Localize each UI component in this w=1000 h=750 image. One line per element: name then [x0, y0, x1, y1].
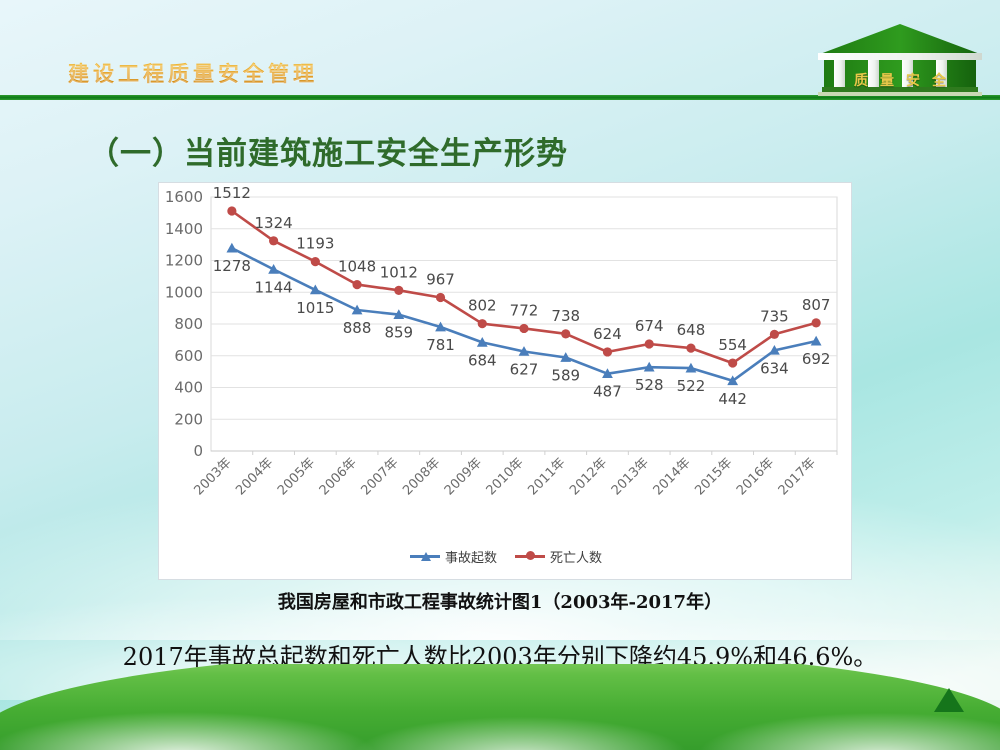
svg-text:2016年: 2016年 — [734, 455, 777, 498]
svg-text:2008年: 2008年 — [400, 455, 443, 498]
svg-text:2007年: 2007年 — [358, 455, 401, 498]
svg-text:522: 522 — [677, 377, 706, 395]
svg-text:781: 781 — [426, 336, 455, 354]
legend-label: 事故起数 — [445, 547, 497, 566]
svg-text:1193: 1193 — [296, 235, 334, 253]
svg-text:627: 627 — [510, 360, 539, 378]
logo: 质量安全 — [810, 20, 990, 98]
logo-text: 质量安全 — [810, 70, 990, 90]
svg-text:442: 442 — [718, 390, 747, 408]
svg-text:600: 600 — [174, 347, 203, 365]
svg-text:1324: 1324 — [255, 214, 293, 232]
chart-panel: 020040060080010001200140016002003年2004年2… — [158, 182, 852, 580]
svg-text:1600: 1600 — [165, 188, 203, 206]
svg-text:888: 888 — [343, 319, 372, 337]
svg-text:1000: 1000 — [165, 283, 203, 301]
legend-item-2[interactable]: 死亡人数 — [515, 547, 602, 566]
svg-text:200: 200 — [174, 410, 203, 428]
chart-legend: 事故起数死亡人数 — [159, 541, 853, 571]
line-chart: 020040060080010001200140016002003年2004年2… — [159, 183, 853, 523]
svg-text:1015: 1015 — [296, 299, 334, 317]
svg-text:692: 692 — [802, 350, 831, 368]
footer-grass-decoration — [0, 664, 1000, 750]
svg-text:859: 859 — [384, 324, 413, 342]
svg-text:634: 634 — [760, 359, 789, 377]
svg-text:2011年: 2011年 — [525, 455, 568, 498]
legend-label: 死亡人数 — [550, 547, 602, 566]
svg-text:738: 738 — [551, 307, 580, 325]
circle-marker-icon — [515, 549, 545, 563]
svg-text:2004年: 2004年 — [233, 455, 276, 498]
svg-text:624: 624 — [593, 325, 622, 343]
svg-text:487: 487 — [593, 383, 622, 401]
svg-text:2010年: 2010年 — [484, 455, 527, 498]
svg-text:967: 967 — [426, 270, 455, 288]
svg-text:735: 735 — [760, 307, 789, 325]
page-title: （一）当前建筑施工安全生产形势 — [88, 128, 568, 173]
slide-header: 建设工程质量安全管理 — [0, 0, 1000, 100]
svg-text:807: 807 — [802, 296, 831, 314]
svg-text:2009年: 2009年 — [442, 455, 485, 498]
svg-text:2017年: 2017年 — [776, 455, 819, 498]
svg-text:648: 648 — [677, 321, 706, 339]
svg-text:589: 589 — [551, 366, 580, 384]
legend-item-1[interactable]: 事故起数 — [410, 547, 497, 566]
svg-text:1512: 1512 — [213, 184, 251, 202]
svg-text:2013年: 2013年 — [609, 455, 652, 498]
svg-text:2003年: 2003年 — [191, 455, 234, 498]
svg-text:772: 772 — [510, 301, 539, 319]
svg-text:684: 684 — [468, 351, 497, 369]
svg-text:2014年: 2014年 — [651, 455, 694, 498]
next-slide-triangle-icon[interactable] — [934, 688, 964, 712]
svg-text:400: 400 — [174, 379, 203, 397]
svg-text:1048: 1048 — [338, 258, 376, 276]
svg-text:2005年: 2005年 — [275, 455, 318, 498]
svg-text:1144: 1144 — [255, 278, 293, 296]
svg-text:554: 554 — [718, 336, 747, 354]
triangle-marker-icon — [410, 549, 440, 563]
svg-text:528: 528 — [635, 376, 664, 394]
svg-text:2006年: 2006年 — [317, 455, 360, 498]
svg-text:2012年: 2012年 — [567, 455, 610, 498]
svg-text:1200: 1200 — [165, 252, 203, 270]
svg-text:802: 802 — [468, 297, 497, 315]
header-title: 建设工程质量安全管理 — [68, 58, 318, 88]
svg-text:1012: 1012 — [380, 263, 418, 281]
svg-text:2015年: 2015年 — [692, 455, 735, 498]
svg-text:1400: 1400 — [165, 220, 203, 238]
svg-text:800: 800 — [174, 315, 203, 333]
grass-haze — [0, 710, 1000, 750]
chart-caption: 我国房屋和市政工程事故统计图1（2003年-2017年） — [0, 588, 1000, 614]
svg-text:1278: 1278 — [213, 257, 251, 275]
svg-text:0: 0 — [193, 442, 203, 460]
chart-plot-area: 020040060080010001200140016002003年2004年2… — [159, 183, 853, 523]
svg-text:674: 674 — [635, 317, 664, 335]
